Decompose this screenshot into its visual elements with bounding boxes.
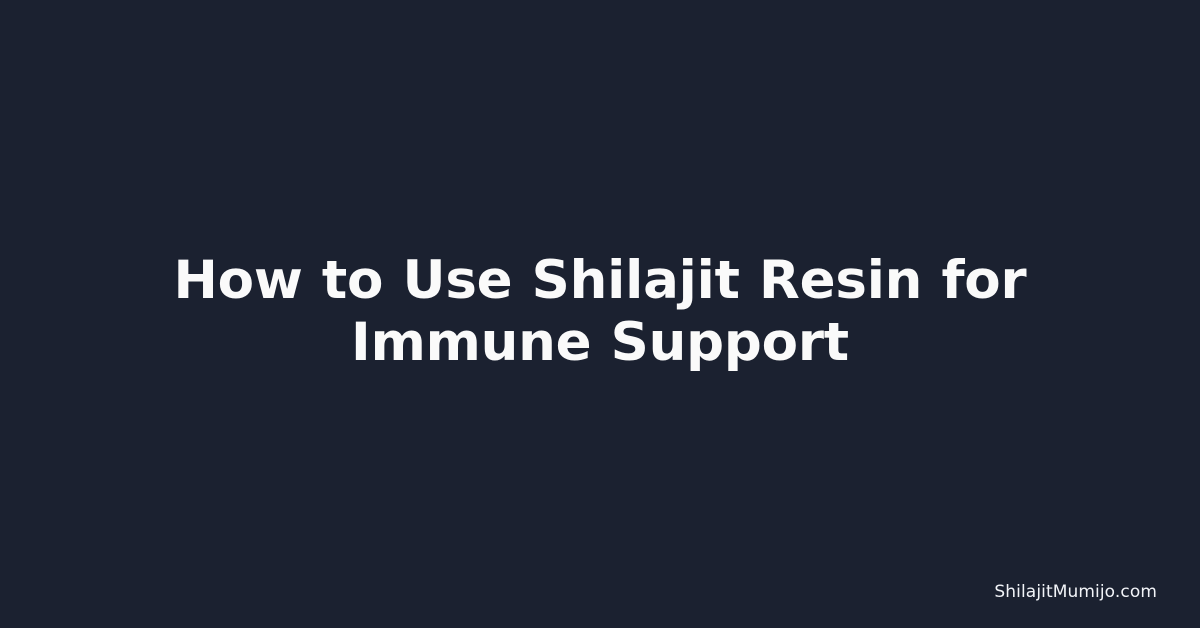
site-watermark: ShilajitMumijo.com [994,582,1157,602]
social-share-card: How to Use Shilajit Resin for Immune Sup… [0,0,1200,628]
title-block: How to Use Shilajit Resin for Immune Sup… [0,0,1200,628]
page-title: How to Use Shilajit Resin for Immune Sup… [160,250,1040,374]
